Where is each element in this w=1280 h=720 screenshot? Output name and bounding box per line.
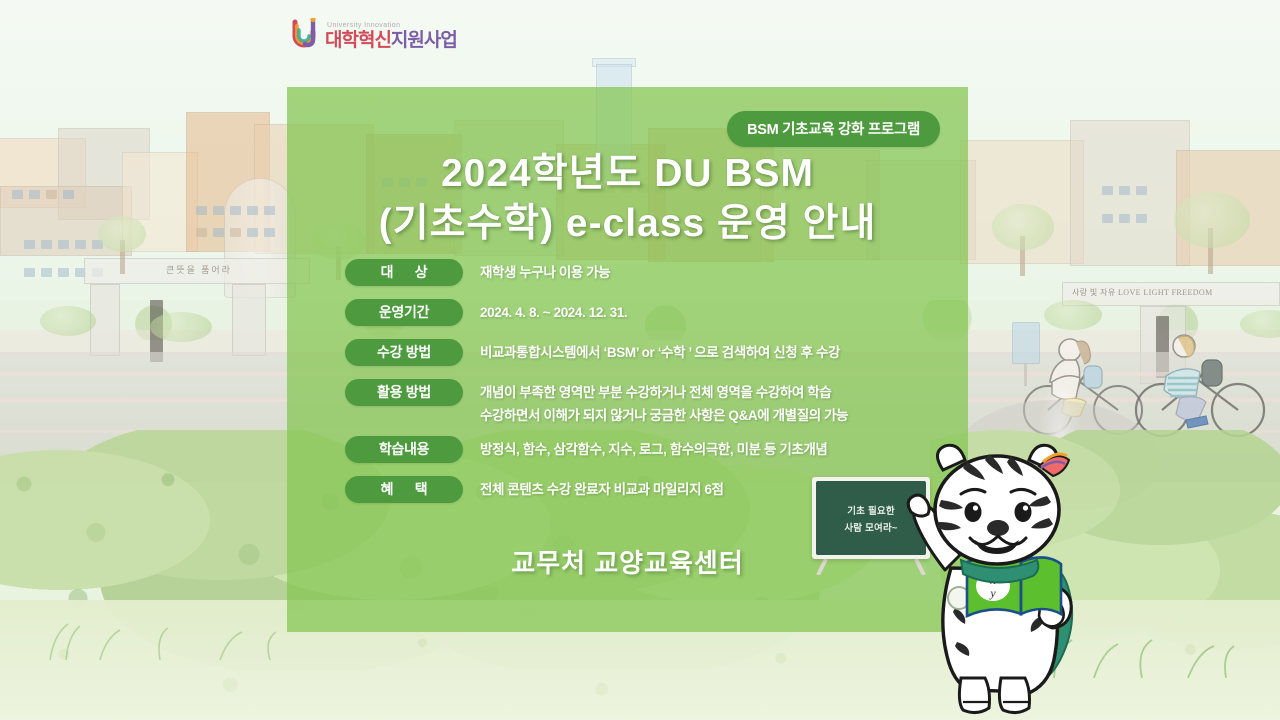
logo-text: University Innovation 대학혁신지원사업 [325,21,457,52]
chalkboard-line-1: 기초 필요한 [847,503,895,517]
math-book: x y [967,556,1061,616]
tree-canopy [1174,192,1250,248]
info-row-label: 혜 택 [345,476,463,503]
tiger-right-leg [999,678,1029,713]
info-row-value-line: 2024. 4. 8. ~ 2024. 12. 31. [480,301,945,324]
white-tiger-mascot: x y [905,440,1130,720]
info-row-value: 비교과통합시스템에서 ‘BSM’ or ‘수학 ’ 으로 검색하여 신청 후 수… [480,339,945,364]
info-row: 운영기간 2024. 4. 8. ~ 2024. 12. 31. [345,299,945,326]
title-line-1: 2024학년도 DU BSM [287,149,968,199]
info-row-label: 수강 방법 [345,339,463,366]
info-row: 수강 방법 비교과통합시스템에서 ‘BSM’ or ‘수학 ’ 으로 검색하여 … [345,339,945,366]
title-line-2: (기초수학) e-class 운영 안내 [287,199,968,249]
book-label-bottom: y [989,586,996,600]
tiger-left-leg [959,678,989,713]
info-row-value-line: 재학생 누구나 이용 가능 [480,261,945,284]
page-title: 2024학년도 DU BSM (기초수학) e-class 운영 안내 [287,149,968,249]
info-row-value: 재학생 누구나 이용 가능 [480,259,945,284]
info-row-label: 학습내용 [345,436,463,463]
tree-canopy [992,204,1054,250]
info-row: 학습내용 방정식, 함수, 삼각함수, 지수, 로그, 함수의극한, 미분 등 … [345,436,945,463]
info-row-label: 운영기간 [345,299,463,326]
logo-korean-part2: 지원사업 [391,30,457,51]
shrub [40,306,96,336]
info-row-label: 대 상 [345,259,463,286]
grass-blades [40,602,300,662]
tiger-eye-right [1015,502,1032,522]
logo-u-j-mark [292,18,320,52]
info-row-value: 2024. 4. 8. ~ 2024. 12. 31. [480,299,945,324]
campus-gate-left-pillar [232,284,266,356]
tiger-head [935,456,1059,564]
info-row-value: 개념이 부족한 영역만 부분 수강하거나 전체 영역을 수강하여 학습 수강하면… [480,379,945,427]
window-row [196,206,275,215]
window-row [12,190,74,199]
chalkboard-line-2: 사람 모여라~ [844,520,897,534]
program-badge: BSM 기초교육 강화 프로그램 [727,111,940,147]
window-row [24,240,103,249]
window-row [1102,214,1147,223]
tiger-left-paw [908,495,929,516]
cyclist-right [1130,320,1270,444]
info-row-label: 활용 방법 [345,379,463,406]
logo-english-tagline: University Innovation [325,21,457,30]
tiger-nose [987,520,1009,536]
tiger-eye-left [965,502,982,522]
gate-right-inscription: 사랑 빛 자유 LOVE LIGHT FREEDOM [1072,287,1272,298]
info-row-value: 방정식, 함수, 삼각함수, 지수, 로그, 함수의극한, 미분 등 기초개념 [480,436,945,461]
window-row [196,228,275,237]
university-innovation-logo: University Innovation 대학혁신지원사업 [292,18,457,52]
info-row-value-line: 수강하면서 이해가 되지 않거나 궁금한 사항은 Q&A에 개별질의 가능 [480,404,945,427]
info-row: 활용 방법 개념이 부족한 영역만 부분 수강하거나 전체 영역을 수강하여 학… [345,379,945,427]
gate-left-inscription: 큰뜻을 품어라 [104,263,294,276]
info-row-value-line: 비교과통합시스템에서 ‘BSM’ or ‘수학 ’ 으로 검색하여 신청 후 수… [480,341,945,364]
poster-canvas: 큰뜻을 품어라 사랑 빛 자유 LOVE LIGHT FREEDOM [0,0,1280,720]
info-row: 대 상 재학생 누구나 이용 가능 [345,259,945,286]
window-row [1102,186,1147,195]
shrub [150,312,212,342]
logo-korean-title: 대학혁신지원사업 [325,30,457,52]
tree-canopy [98,216,146,252]
info-row-value-line: 개념이 부족한 영역만 부분 수강하거나 전체 영역을 수강하여 학습 [480,381,945,404]
info-row-value-line: 방정식, 함수, 삼각함수, 지수, 로그, 함수의극한, 미분 등 기초개념 [480,438,945,461]
logo-korean-part1: 대학혁신 [325,30,391,51]
